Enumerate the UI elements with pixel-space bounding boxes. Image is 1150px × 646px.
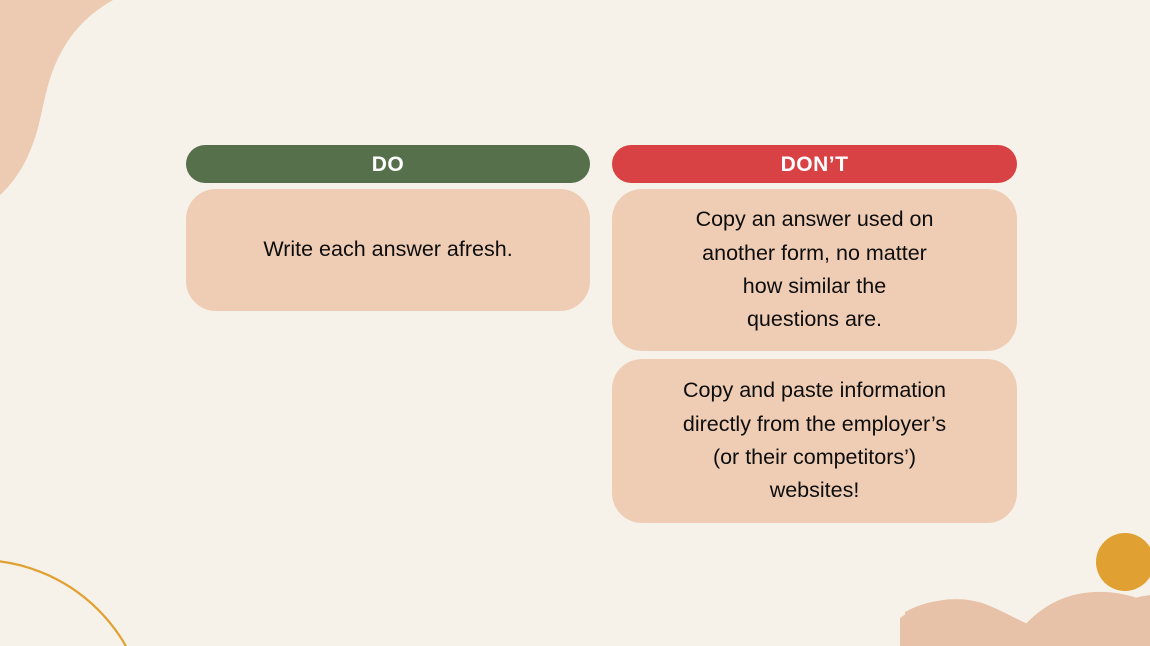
dont-card-1: Copy an answer used on another form, no …: [612, 189, 1017, 351]
do-card-1-text: Write each answer afresh.: [212, 233, 564, 266]
content-columns: DO Write each answer afresh. DON’T Copy …: [0, 0, 1150, 646]
column-header-dont: DON’T: [612, 145, 1017, 183]
dont-card-2-text: Copy and paste information directly from…: [638, 374, 991, 507]
dont-card-2: Copy and paste information directly from…: [612, 359, 1017, 523]
do-card-1: Write each answer afresh.: [186, 189, 590, 311]
slide-canvas: DO Write each answer afresh. DON’T Copy …: [0, 0, 1150, 646]
column-dont: DON’T Copy an answer used on another for…: [612, 145, 1017, 523]
column-do: DO Write each answer afresh.: [186, 145, 590, 311]
dont-card-1-text: Copy an answer used on another form, no …: [638, 203, 991, 336]
column-header-do: DO: [186, 145, 590, 183]
